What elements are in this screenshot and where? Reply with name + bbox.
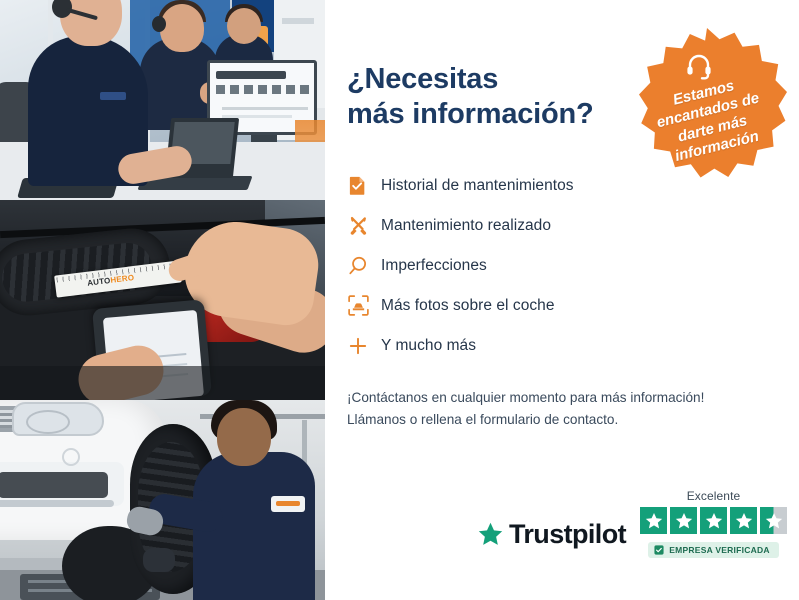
star-3 — [700, 507, 727, 534]
photo-column: AUTOHERO — [0, 0, 325, 600]
verified-shield-icon — [654, 545, 664, 555]
trustpilot-star-icon — [477, 521, 504, 548]
feature-label: Imperfecciones — [381, 257, 487, 275]
verified-label: EMPRESA VERIFICADA — [669, 545, 770, 555]
feature-item-imperfecciones: Imperfecciones — [347, 247, 799, 285]
content-panel: ¿Necesitas más información? Estamos enca… — [325, 0, 799, 600]
mechanic-figure — [193, 452, 315, 600]
photo-car-inspection: AUTOHERO — [0, 200, 325, 400]
star-2 — [670, 507, 697, 534]
starburst-badge: Estamos encantados de darte más informac… — [627, 28, 787, 186]
badge-text-wrap: Estamos encantados de darte más informac… — [627, 28, 787, 186]
contact-paragraph: ¡Contáctanos en cualquier momento para m… — [347, 387, 777, 432]
star-1 — [640, 507, 667, 534]
feature-item-fotos: Más fotos sobre el coche — [347, 287, 799, 325]
badge-text: Estamos encantados de darte más informac… — [635, 68, 787, 172]
feature-list: Historial de mantenimientos Mantenimient… — [347, 167, 799, 365]
trustpilot-block[interactable]: Trustpilot Excelente — [477, 489, 787, 558]
crossed-tools-icon — [347, 214, 381, 237]
paragraph-line-1: ¡Contáctanos en cualquier momento para m… — [347, 387, 777, 409]
agent-1-figure — [28, 36, 148, 186]
document-check-icon — [347, 175, 381, 196]
feature-label: Más fotos sobre el coche — [381, 297, 555, 315]
feature-item-mantenimiento: Mantenimiento realizado — [347, 207, 799, 245]
trustpilot-name: Trustpilot — [509, 519, 626, 550]
plus-icon — [347, 335, 381, 357]
star-rating — [640, 507, 787, 534]
photo-call-center — [0, 0, 325, 200]
photo-mechanic-wheel — [0, 400, 325, 600]
trustpilot-logo[interactable]: Trustpilot — [477, 519, 626, 558]
feature-label: Mantenimiento realizado — [381, 217, 551, 235]
shelf-decor — [282, 18, 314, 24]
star-5-half — [760, 507, 787, 534]
magnifier-icon — [347, 255, 381, 277]
headline-line-2: más información? — [347, 97, 637, 132]
feature-label: Historial de mantenimientos — [381, 177, 574, 195]
trustpilot-rating: Excelente — [640, 489, 787, 558]
feature-item-mas: Y mucho más — [347, 327, 799, 365]
feature-label: Y mucho más — [381, 337, 476, 355]
paragraph-line-2: Llámanos o rellena el formulario de cont… — [347, 409, 777, 431]
promo-banner: AUTOHERO — [0, 0, 799, 600]
car-focus-icon — [347, 294, 381, 317]
page-title: ¿Necesitas más información? — [347, 62, 637, 133]
headline-line-1: ¿Necesitas — [347, 62, 637, 97]
star-4 — [730, 507, 757, 534]
shadow-decor — [0, 366, 325, 400]
rating-label: Excelente — [687, 489, 741, 503]
verified-badge: EMPRESA VERIFICADA — [648, 542, 779, 558]
